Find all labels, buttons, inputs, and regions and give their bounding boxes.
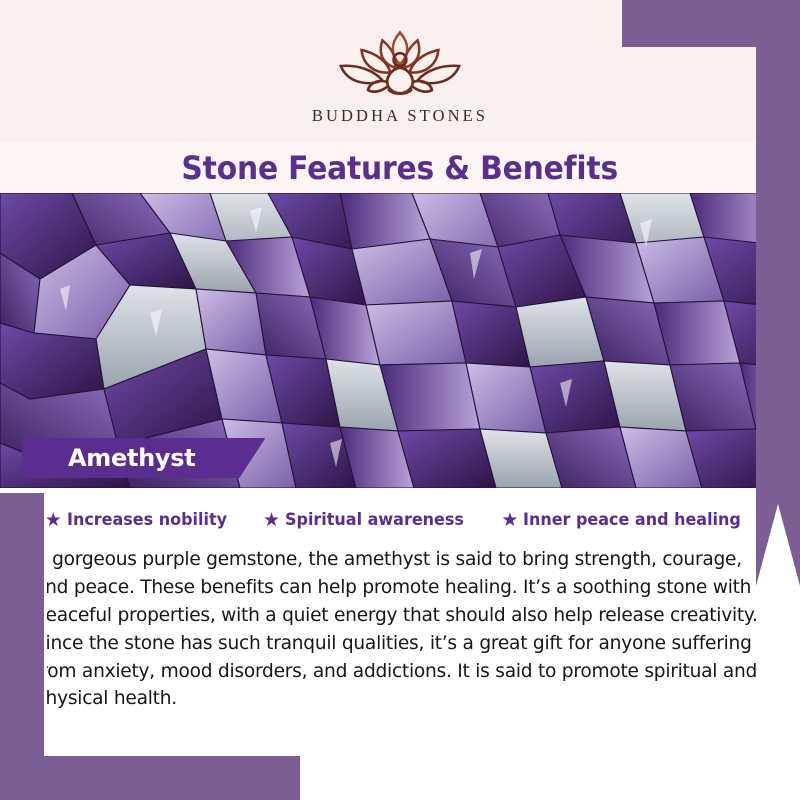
feature-item: ★ Increases nobility	[45, 510, 237, 530]
section-title-bar: Stone Features & Benefits	[0, 142, 800, 193]
star-icon: ★	[263, 511, 280, 530]
brand-wordmark: BUDDHA STONES	[312, 106, 488, 126]
feature-list: ★ Increases nobility ★ Spiritual awarene…	[34, 510, 766, 530]
feature-item: ★ Spiritual awareness	[263, 510, 475, 530]
frame-inset-line-bottom	[44, 753, 294, 756]
feature-label: Increases nobility	[67, 510, 227, 530]
frame-band-right	[756, 0, 800, 586]
star-icon: ★	[45, 511, 62, 530]
stone-description: A gorgeous purple gemstone, the amethyst…	[34, 546, 766, 713]
stone-name-label: Amethyst	[22, 438, 265, 478]
amethyst-crystal-cluster-photo: Amethyst	[0, 193, 800, 488]
feature-label: Inner peace and healing	[523, 510, 741, 530]
frame-inset-line-left	[44, 496, 47, 756]
star-icon: ★	[501, 511, 518, 530]
stone-name-text: Amethyst	[68, 444, 195, 472]
frame-band-bottom	[0, 756, 300, 800]
lotus-meditation-icon	[320, 26, 480, 104]
page-title: Stone Features & Benefits	[182, 149, 619, 187]
frame-inset-line-top	[622, 47, 756, 50]
feature-label: Spiritual awareness	[285, 510, 464, 530]
frame-band-left	[0, 493, 44, 800]
feature-item: ★ Inner peace and healing	[501, 510, 755, 530]
